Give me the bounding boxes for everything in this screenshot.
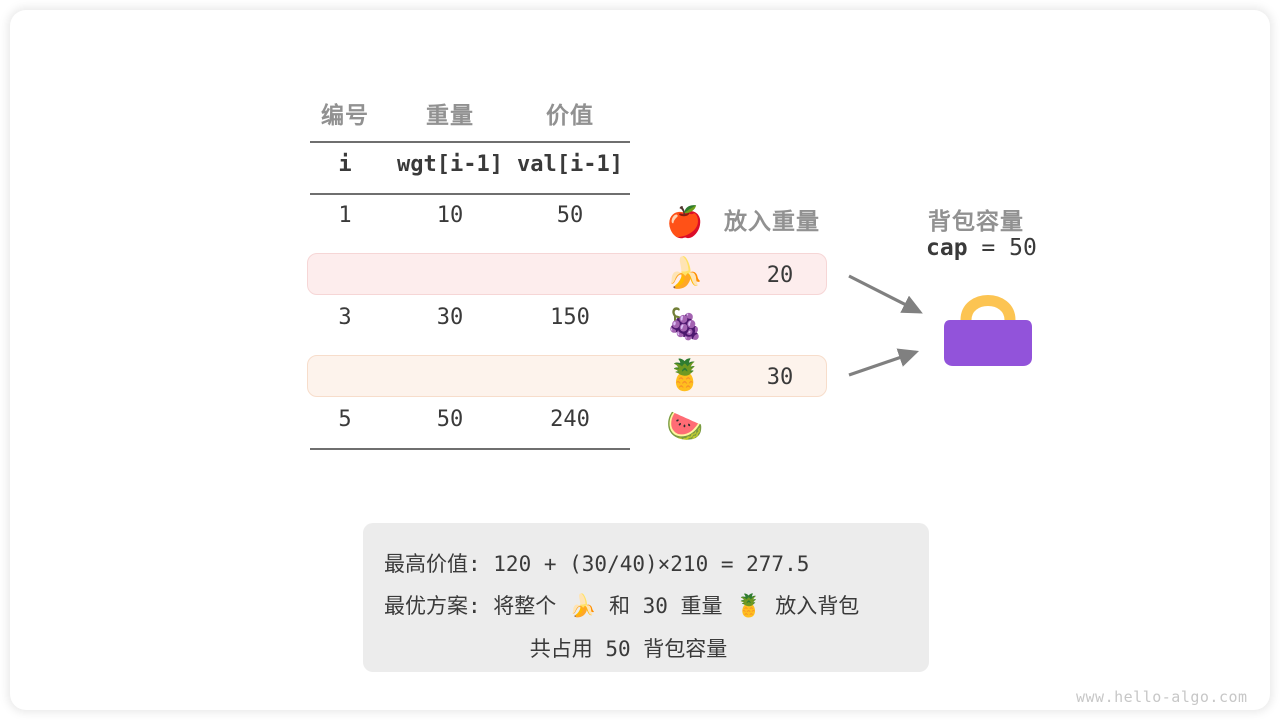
summary-line-max-value: 最高价值: 120 + (30/40)×210 = 277.5: [384, 543, 903, 585]
apple-emoji: 🍎: [662, 208, 708, 238]
banana-emoji: 🍌: [569, 594, 596, 619]
summary-line-optimal-plan: 最优方案: 将整个 🍌 和 30 重量 🍍 放入背包: [384, 585, 903, 628]
cell-val: 240: [510, 407, 630, 432]
grapes-emoji: 🍇: [662, 310, 708, 340]
pineapple-emoji: 🍍: [735, 594, 762, 619]
plan-suffix: 放入背包: [763, 594, 860, 618]
summary-box: 最高价值: 120 + (30/40)×210 = 277.5 最优方案: 将整…: [363, 523, 929, 672]
capacity-equation: cap = 50: [926, 235, 1037, 261]
header-cn-wgt: 重量: [390, 96, 510, 130]
put-weight-row-2: 20: [745, 263, 815, 288]
header-cn-val: 价值: [510, 96, 630, 130]
cell-id: 3: [300, 305, 390, 330]
table-header-cn-row: 编号 重量 价值: [300, 88, 640, 138]
put-weight-label: 放入重量: [724, 202, 820, 236]
header-code-i: i: [300, 152, 390, 177]
header-cn-id: 编号: [300, 96, 390, 130]
plan-mid: 和 30 重量: [596, 594, 735, 618]
diagram-card: 编号 重量 价值 i wgt[i-1] val[i-1] 1 10 50 2 2…: [10, 10, 1270, 710]
table-rule-top: [310, 141, 630, 143]
cap-value: 50: [1009, 235, 1037, 261]
table-row: 1 10 50: [300, 190, 640, 241]
header-code-val: val[i-1]: [510, 152, 630, 177]
cap-eq-sign: =: [968, 235, 1010, 261]
table-row: 5 50 240: [300, 394, 640, 445]
cell-wgt: 10: [390, 203, 510, 228]
cell-val: 150: [510, 305, 630, 330]
table-header-code-row: i wgt[i-1] val[i-1]: [300, 138, 640, 190]
table-rule-bottom: [310, 448, 630, 450]
cell-wgt: 30: [390, 305, 510, 330]
cell-id: 1: [300, 203, 390, 228]
summary-line-total-used: 共占用 50 背包容量: [384, 628, 903, 670]
watermark: www.hello-algo.com: [1076, 688, 1248, 706]
put-weight-row-4: 30: [745, 365, 815, 390]
backpack-icon: [940, 278, 1036, 370]
header-code-wgt: wgt[i-1]: [390, 152, 510, 177]
pineapple-emoji: 🍍: [662, 361, 708, 391]
capacity-label: 背包容量: [928, 202, 1024, 236]
cell-wgt: 50: [390, 407, 510, 432]
cell-val: 50: [510, 203, 630, 228]
cap-var: cap: [926, 235, 968, 261]
plan-prefix: 最优方案: 将整个: [384, 594, 569, 618]
cell-id: 5: [300, 407, 390, 432]
watermelon-emoji: 🍉: [662, 412, 708, 442]
table-rule-middle: [310, 193, 630, 195]
banana-emoji: 🍌: [662, 259, 708, 289]
table-row: 3 30 150: [300, 292, 640, 343]
